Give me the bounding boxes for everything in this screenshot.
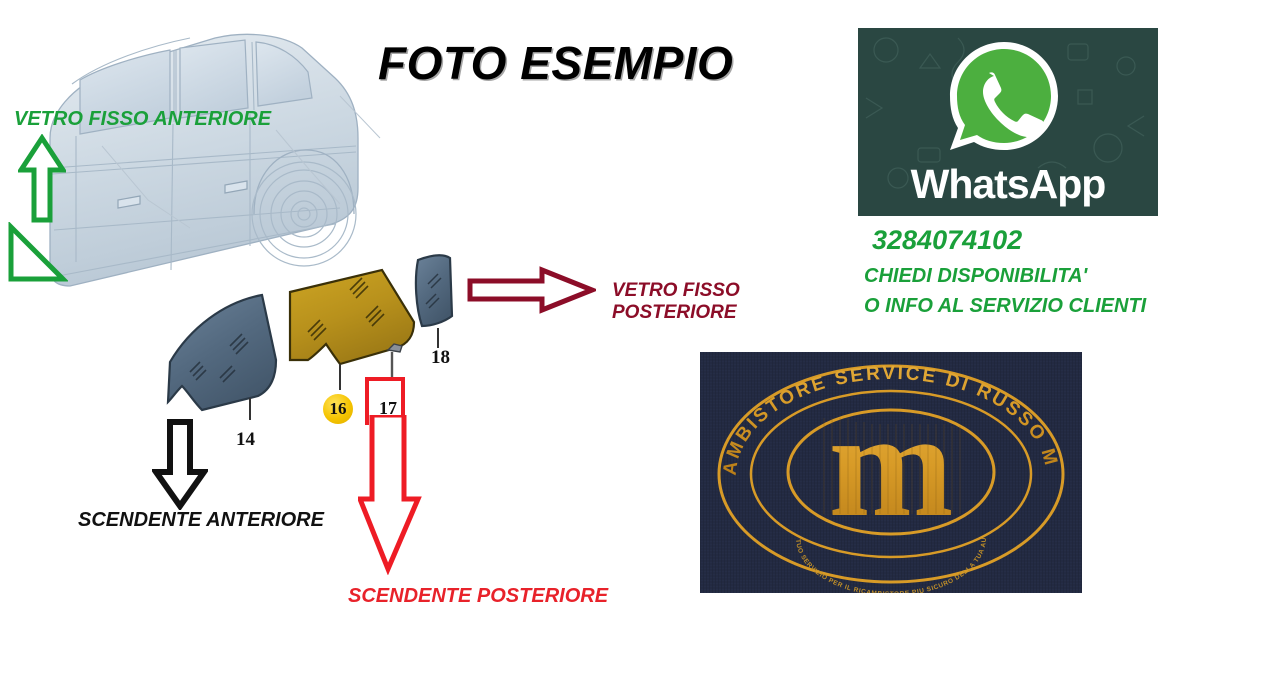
svg-text:m: m	[829, 382, 954, 548]
whatsapp-phone-icon	[934, 36, 1082, 169]
label-vetro-fisso-posteriore-line1: VETRO FISSO	[612, 280, 792, 302]
shop-logo: MRICAMBISTORE SERVICE DI RUSSO MARCO m	[700, 352, 1082, 593]
shop-logo-svg: MRICAMBISTORE SERVICE DI RUSSO MARCO m	[700, 352, 1082, 593]
part-number-16-badge: 16	[323, 394, 353, 424]
green-up-arrow-svg	[18, 134, 66, 224]
red-down-arrow	[358, 415, 422, 575]
page-title: FOTO ESEMPIO	[378, 36, 733, 90]
poster-canvas: 14 18 17 16 FOTO ESEMPIO VETRO FISSO ANT…	[0, 0, 1264, 678]
label-vetro-fisso-posteriore-line2: POSTERIORE	[612, 302, 792, 324]
part-14-front-door-glass	[168, 295, 276, 420]
part-number-18: 18	[431, 347, 450, 369]
green-triangle	[6, 222, 68, 284]
part-18-quarter-glass	[416, 255, 452, 348]
whatsapp-icon-svg	[934, 36, 1082, 164]
part-17-guide	[388, 344, 402, 380]
contact-line-2: O INFO AL SERVIZIO CLIENTI	[864, 295, 1146, 318]
label-scendente-posteriore: SCENDENTE POSTERIORE	[348, 585, 608, 608]
phone-number[interactable]: 3284074102	[872, 225, 1022, 256]
contact-line-1: CHIEDI DISPONIBILITA'	[864, 265, 1087, 288]
label-vetro-fisso-posteriore: VETRO FISSO POSTERIORE	[612, 280, 792, 324]
part-number-14: 14	[236, 429, 255, 451]
whatsapp-wordmark: WhatsApp	[858, 161, 1158, 208]
part-16-rear-door-glass	[290, 270, 414, 390]
label-scendente-anteriore: SCENDENTE ANTERIORE	[78, 509, 324, 532]
red-down-arrow-svg	[358, 415, 422, 575]
dark-red-right-arrow	[466, 266, 596, 314]
whatsapp-banner: WhatsApp	[858, 28, 1158, 216]
black-down-arrow	[152, 418, 208, 510]
glass-parts-svg	[150, 240, 480, 440]
green-up-arrow	[18, 134, 66, 224]
exploded-glass-parts	[150, 240, 480, 445]
green-triangle-svg	[6, 222, 68, 284]
label-vetro-fisso-anteriore: VETRO FISSO ANTERIORE	[14, 108, 271, 131]
shop-logo-monogram: m	[824, 382, 960, 548]
black-down-arrow-svg	[152, 418, 208, 510]
dark-red-right-arrow-svg	[466, 266, 596, 314]
